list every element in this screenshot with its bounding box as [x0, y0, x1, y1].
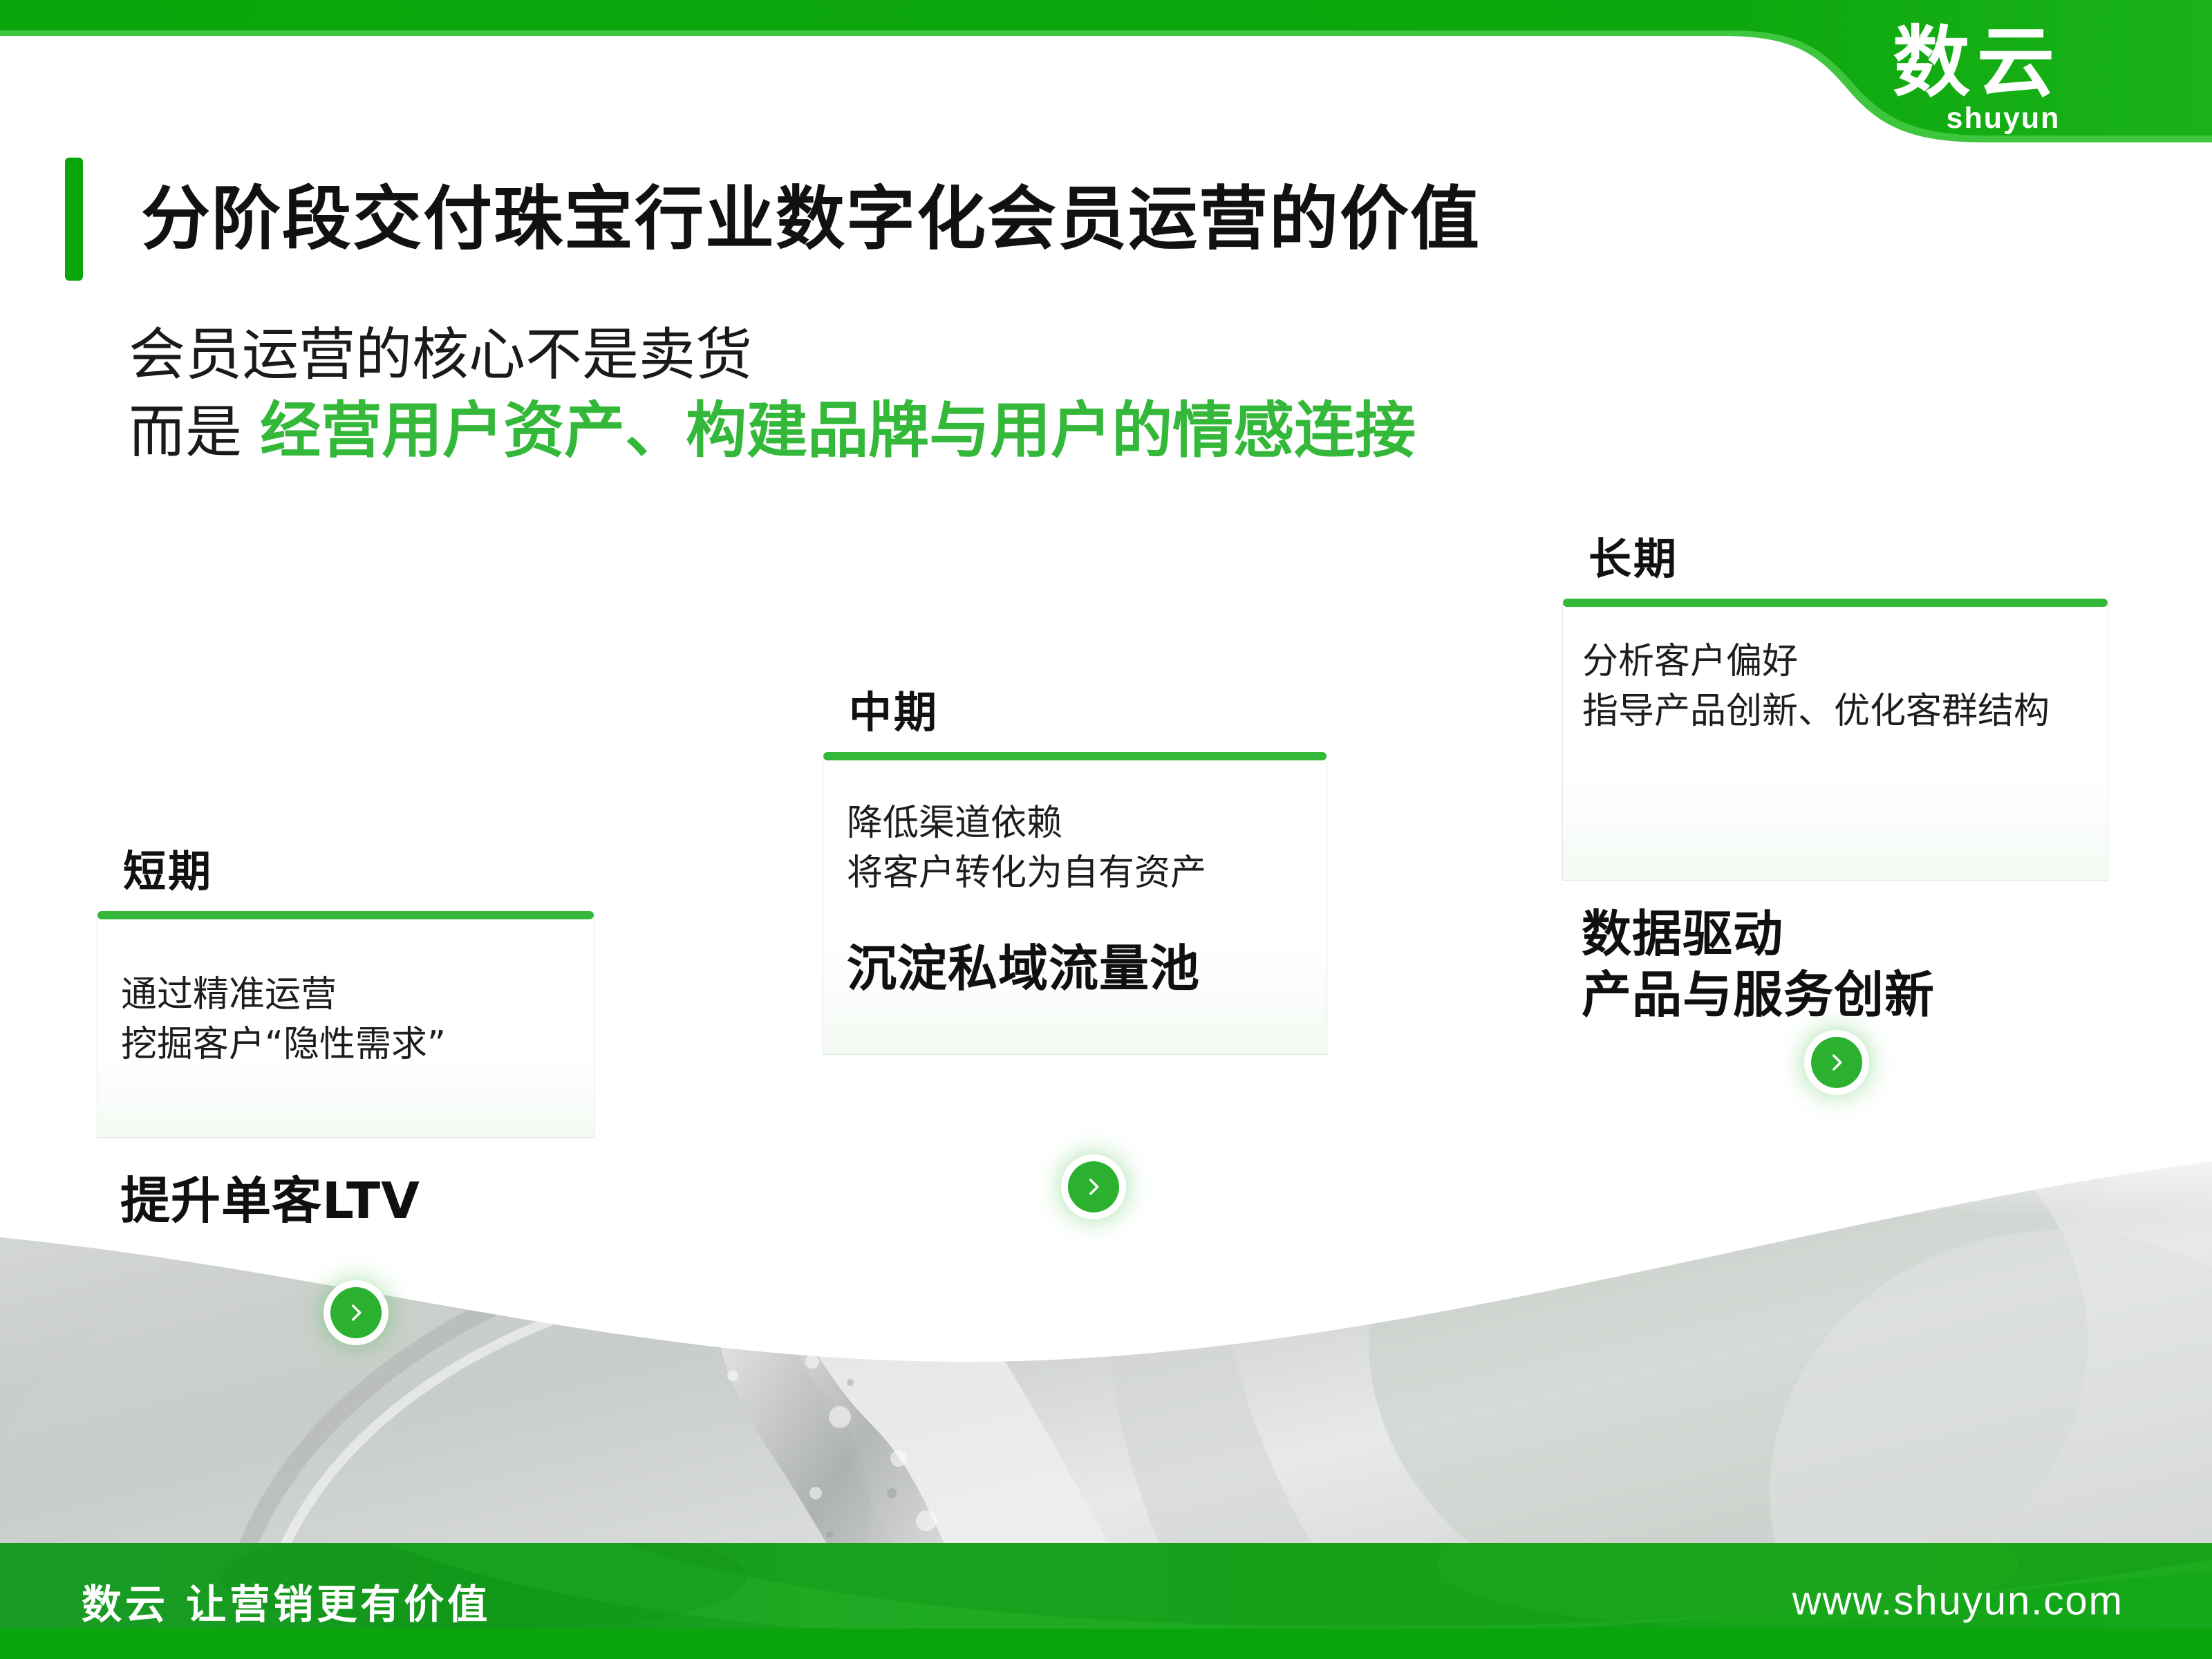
- card-line: 挖掘客户“隐性需求”: [121, 1020, 570, 1070]
- subtitle-line-2: 而是 经营用户资产、构建品牌与用户的情感连接: [129, 392, 1416, 470]
- card-box-mid: 降低渠道依赖 将客户转化为自有资产 沉淀私域流量池: [823, 758, 1327, 1055]
- title-text: 分阶段交付珠宝行业数字化会员运营的价值: [141, 185, 1481, 254]
- card-line: 降低渠道依赖: [847, 799, 1303, 849]
- logo-cn-text: 数云: [1839, 24, 2115, 102]
- card-headline-line: 数据驱动: [1582, 904, 2108, 965]
- card-line: 分析客户偏好: [1582, 637, 2084, 687]
- card-line: 通过精准运营: [121, 971, 570, 1020]
- card-line: 指导产品创新、优化客群结构: [1582, 687, 2084, 737]
- arrow-button-mid-term[interactable]: [1068, 1161, 1119, 1212]
- arrow-button-long-term[interactable]: [1811, 1037, 1862, 1088]
- card-headline-short: 提升单客LTV: [120, 1171, 594, 1232]
- brand-logo: 数云 shuyun: [1839, 24, 2115, 133]
- card-headline-long: 数据驱动 产品与服务创新: [1582, 904, 2108, 1026]
- card-body-short: 通过精准运营 挖掘客户“隐性需求”: [97, 917, 594, 1106]
- card-box-long: 分析客户偏好 指导产品创新、优化客群结构: [1562, 604, 2108, 881]
- card-label-long: 长期: [1588, 538, 2108, 581]
- chevron-right-icon: [344, 1301, 368, 1324]
- footer-slogan: 数云 让营销更有价值: [82, 1572, 491, 1630]
- logo-en-text: shuyun: [1839, 104, 2115, 133]
- card-label-mid: 中期: [849, 691, 1327, 734]
- card-headline-line: 产品与服务创新: [1582, 965, 2108, 1026]
- arrow-button-short-term[interactable]: [330, 1287, 382, 1338]
- slide-canvas: 数云 shuyun 分阶段交付珠宝行业数字化会员运营的价值 会员运营的核心不是卖…: [0, 0, 2212, 1659]
- card-headline-line: 提升单客LTV: [120, 1171, 594, 1232]
- stage-card-long-term[interactable]: 长期 分析客户偏好 指导产品创新、优化客群结构 数据驱动 产品与服务创新: [1562, 538, 2108, 1026]
- subtitle-accent: 经营用户资产、构建品牌与用户的情感连接: [260, 395, 1416, 466]
- stage-card-mid-term[interactable]: 中期 降低渠道依赖 将客户转化为自有资产 沉淀私域流量池: [823, 691, 1327, 1055]
- card-body-mid: 降低渠道依赖 将客户转化为自有资产 沉淀私域流量池: [823, 758, 1327, 1035]
- page-title: 分阶段交付珠宝行业数字化会员运营的价值: [65, 158, 1481, 281]
- stage-card-short-term[interactable]: 短期 通过精准运营 挖掘客户“隐性需求” 提升单客LTV: [97, 850, 594, 1232]
- card-label-short: 短期: [123, 850, 594, 893]
- title-accent-bar: [65, 158, 83, 281]
- card-headline-line: 沉淀私域流量池: [847, 939, 1303, 1000]
- card-body-long: 分析客户偏好 指导产品创新、优化客群结构: [1563, 604, 2108, 773]
- card-box-short: 通过精准运营 挖掘客户“隐性需求”: [97, 917, 594, 1138]
- footer-bar: 数云 让营销更有价值 www.shuyun.com: [0, 1543, 2212, 1659]
- subtitle-prefix: 而是: [129, 400, 260, 465]
- chevron-right-icon: [1825, 1051, 1848, 1074]
- footer-website[interactable]: www.shuyun.com: [1792, 1578, 2124, 1624]
- chevron-right-icon: [1082, 1175, 1105, 1199]
- subtitle-line-1: 会员运营的核心不是卖货: [129, 319, 1416, 392]
- subtitle-block: 会员运营的核心不是卖货 而是 经营用户资产、构建品牌与用户的情感连接: [129, 319, 1416, 470]
- card-line: 将客户转化为自有资产: [847, 849, 1303, 899]
